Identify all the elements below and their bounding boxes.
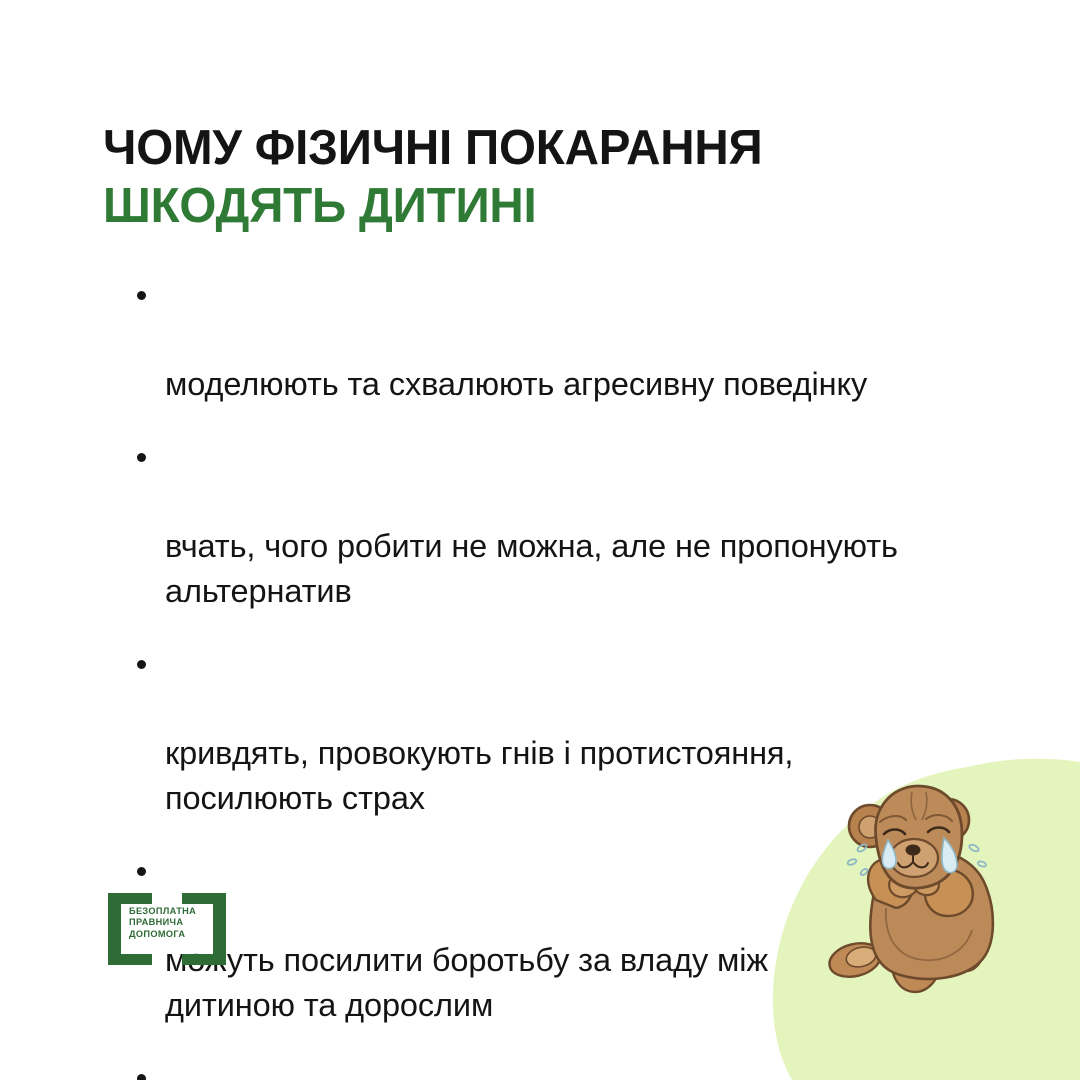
list-item: вчать, чого робити не можна, але не проп…	[133, 434, 1033, 614]
logo-wordmark-line-2: ПРАВНИЧА	[129, 917, 209, 928]
page-title-line-1: ЧОМУ ФІЗИЧНІ ПОКАРАННЯ	[103, 119, 957, 177]
list-item-label: можуть посилити боротьбу за владу між ди…	[165, 942, 768, 1023]
infographic-canvas: ЧОМУ ФІЗИЧНІ ПОКАРАННЯ ШКОДЯТЬ ДИТИНІ мо…	[0, 0, 1080, 1080]
list-item: кривдять, провокують гнів і протистояння…	[133, 641, 1033, 821]
logo-wordmark-line-1: БЕЗОПЛАТНА	[129, 906, 209, 917]
bullet-dot-icon	[137, 660, 146, 669]
bullet-dot-icon	[137, 453, 146, 462]
logo-wordmark: БЕЗОПЛАТНА ПРАВНИЧА ДОПОМОГА	[129, 906, 209, 940]
bullet-dot-icon	[137, 291, 146, 300]
organization-logo[interactable]: БЕЗОПЛАТНА ПРАВНИЧА ДОПОМОГА	[108, 893, 226, 965]
list-item: можуть посилити боротьбу за владу між ди…	[133, 848, 1033, 1028]
list-item: можуть викликати у дітей негативну динам…	[133, 1055, 1033, 1080]
list-item-label: кривдять, провокують гнів і протистояння…	[165, 735, 793, 816]
list-item: моделюють та схвалюють агресивну поведін…	[133, 272, 1033, 407]
list-item-label: моделюють та схвалюють агресивну поведін…	[165, 366, 867, 402]
reasons-list: моделюють та схвалюють агресивну поведін…	[133, 272, 1033, 1080]
bullet-dot-icon	[137, 867, 146, 876]
page-title: ЧОМУ ФІЗИЧНІ ПОКАРАННЯ ШКОДЯТЬ ДИТИНІ	[103, 119, 983, 235]
logo-wordmark-line-3: ДОПОМОГА	[129, 929, 209, 940]
page-title-line-2: ШКОДЯТЬ ДИТИНІ	[103, 177, 957, 235]
bullet-dot-icon	[137, 1074, 146, 1080]
list-item-label: вчать, чого робити не можна, але не проп…	[165, 528, 898, 609]
